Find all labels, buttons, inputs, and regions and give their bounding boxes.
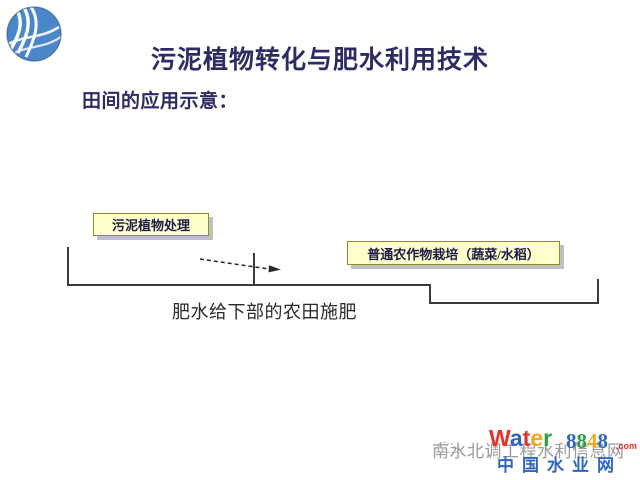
connector-right-horizontal — [429, 302, 599, 304]
connector-mid-vertical — [429, 284, 431, 304]
connector-lower-horizontal — [67, 284, 431, 286]
connector-right-vertical — [597, 279, 599, 304]
diagram-caption: 肥水给下部的农田施肥 — [172, 298, 357, 324]
watermark-brand-word: Water — [489, 426, 552, 451]
page-title: 污泥植物转化与肥水利用技术 — [0, 40, 640, 76]
diagram-box-sludge-plant-treatment[interactable]: 污泥植物处理 — [93, 213, 209, 236]
watermark-brand-tld: .com — [616, 441, 637, 451]
diagram-box-label: 普通农作物栽培（蔬菜/水稻） — [367, 244, 540, 263]
watermark-brand-subtitle: 中国水业网 — [497, 451, 622, 476]
dashed-flow-arrow — [199, 256, 281, 274]
diagram-box-label: 污泥植物处理 — [112, 215, 190, 234]
connector-left-vertical — [67, 247, 69, 286]
subtitle-label: 田间的应用示意： — [82, 86, 238, 113]
diagram-box-ordinary-crop-cultivation[interactable]: 普通农作物栽培（蔬菜/水稻） — [347, 241, 560, 265]
slide-canvas: 污泥植物转化与肥水利用技术 田间的应用示意： 污泥植物处理 普通农作物栽培（蔬菜… — [0, 0, 640, 480]
watermark: 南水北调工程水利信息网 Water 8848 .com 中国水业网 — [432, 424, 640, 478]
watermark-brand-logo: Water 8848 .com 中国水业网 — [489, 426, 639, 474]
